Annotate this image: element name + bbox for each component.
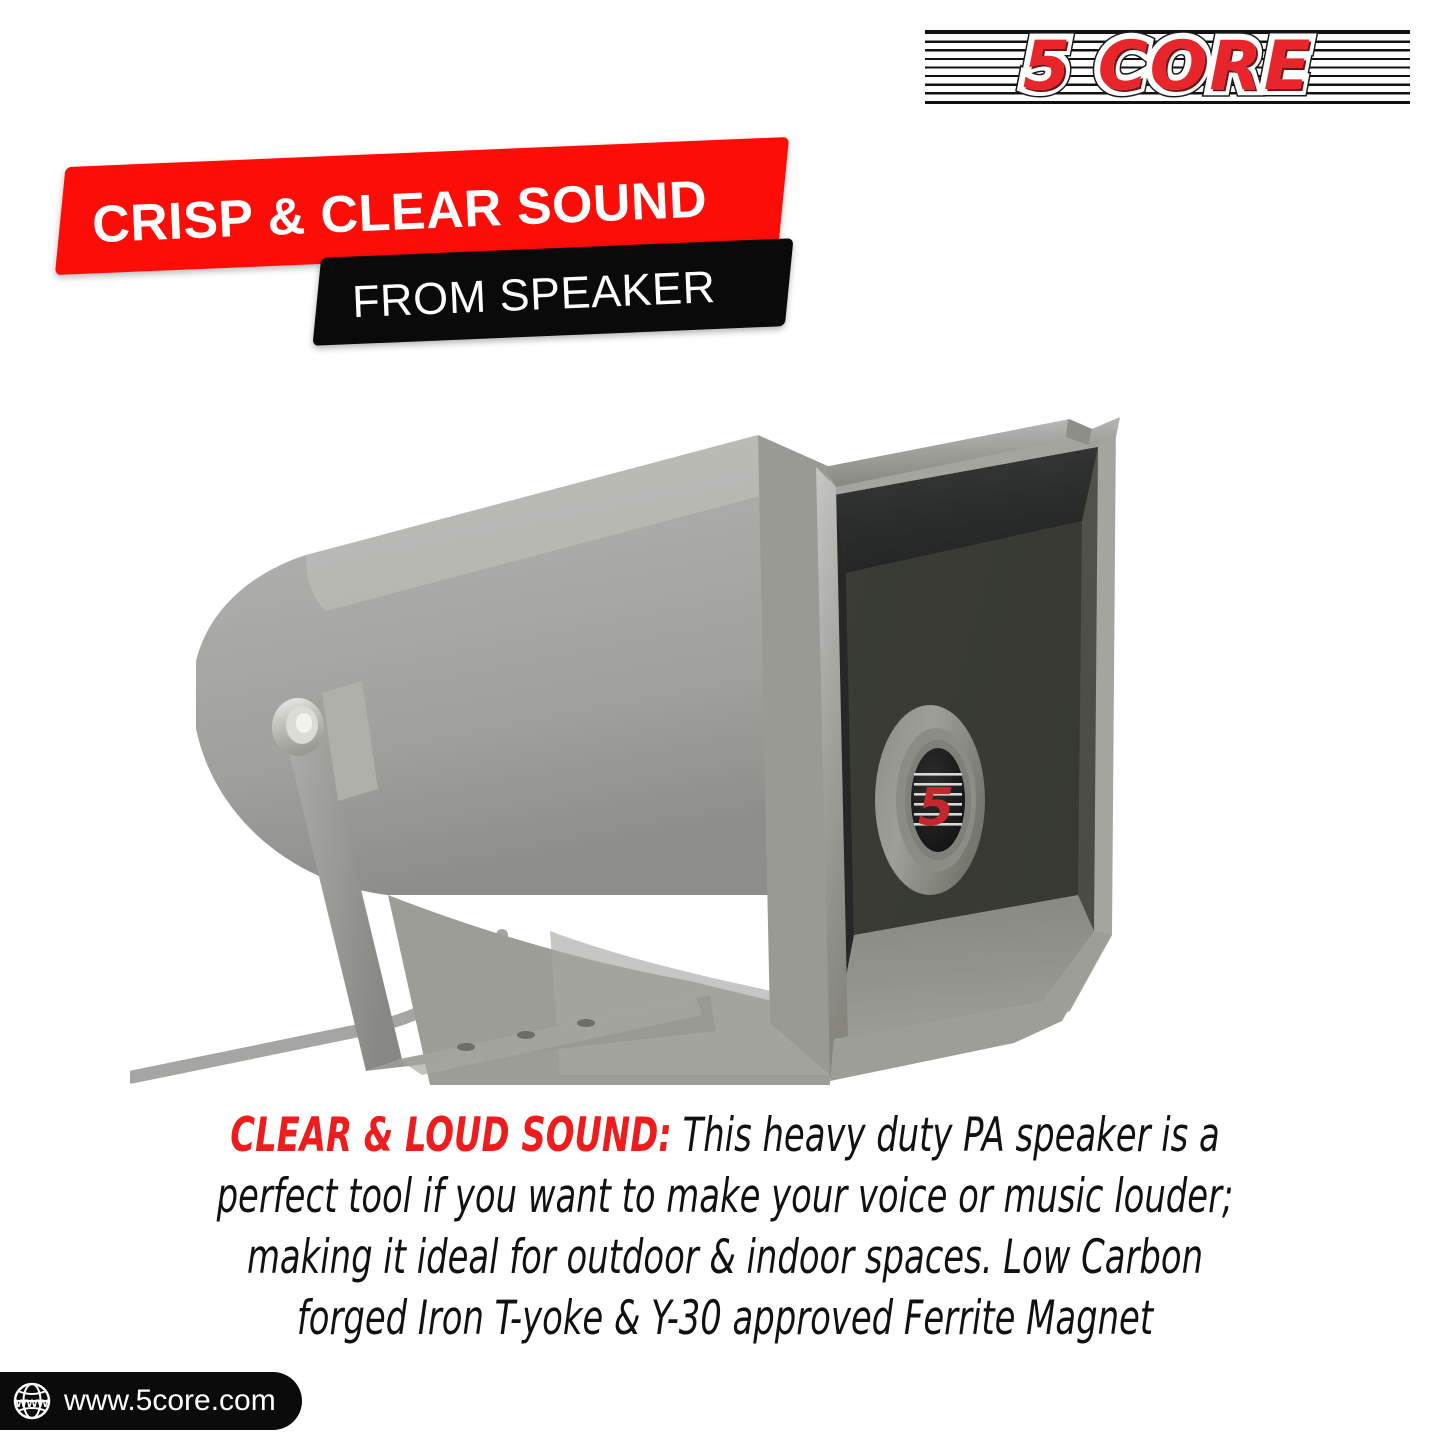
speaker-center-badge: 5 [905, 740, 971, 860]
description-lead: CLEAR & LOUD SOUND: [230, 1108, 672, 1163]
brand-logo: 5 CORE 5 CORE [925, 22, 1410, 110]
speaker-cable [132, 1029, 366, 1077]
mount-hole [577, 1019, 595, 1027]
product-description: CLEAR & LOUD SOUND: This heavy duty PA s… [209, 1105, 1241, 1349]
mount-hole [517, 1031, 535, 1039]
logo-text: 5 CORE [925, 22, 1410, 110]
globe-icon: www [12, 1381, 52, 1421]
website-url: www.5core.com [64, 1384, 276, 1418]
mount-bolt-highlight [296, 713, 312, 733]
product-marketing-image: 5 CORE 5 CORE CRISP & CLEAR SOUND FROM S… [0, 0, 1445, 1445]
globe-www-label: www [15, 1394, 49, 1410]
mount-hole [457, 1043, 475, 1051]
website-badge[interactable]: www www.5core.com [0, 1372, 302, 1430]
badge-digit: 5 [918, 778, 954, 838]
product-image-horn-speaker: 5 [130, 375, 1120, 1085]
